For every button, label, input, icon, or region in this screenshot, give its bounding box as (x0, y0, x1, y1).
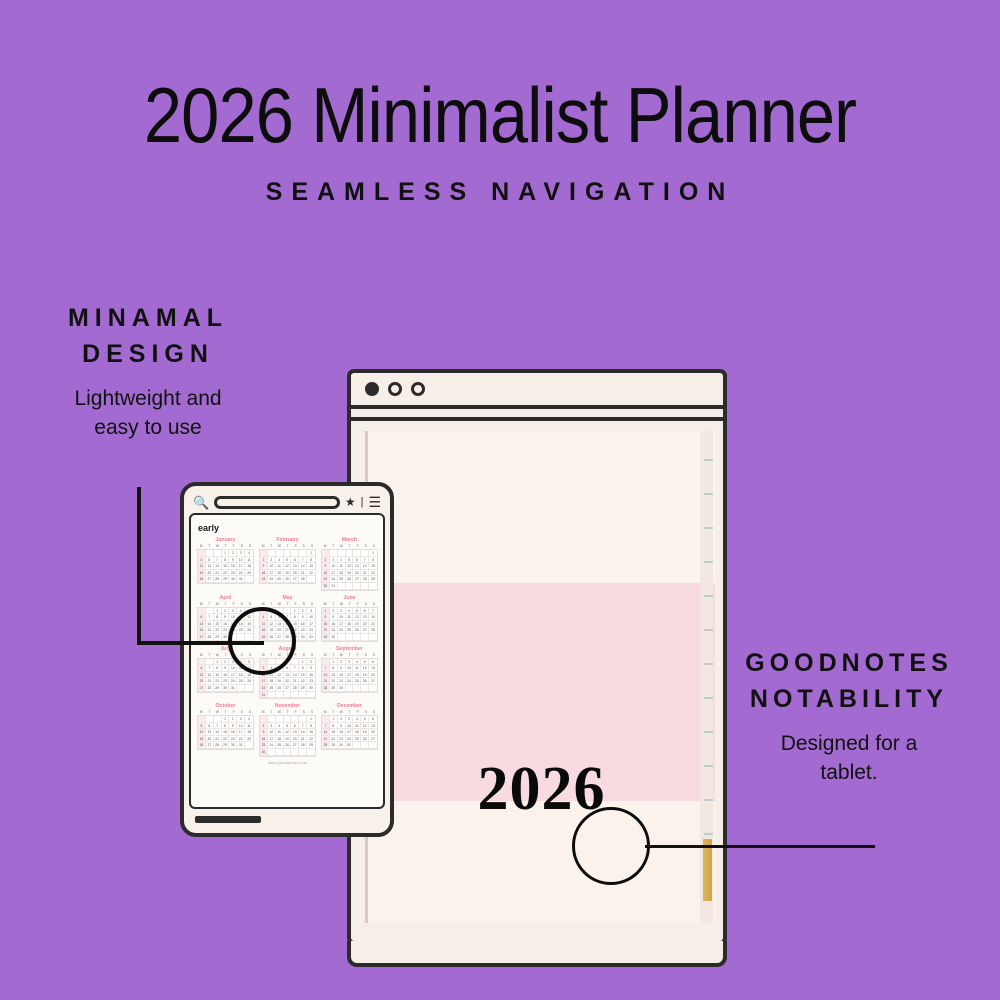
day-cell[interactable]: 31 (229, 685, 237, 692)
day-cell[interactable]: 6 (361, 608, 369, 615)
day-cell[interactable]: 9 (322, 563, 330, 570)
day-cell[interactable] (276, 550, 284, 557)
day-cell[interactable]: 4 (338, 557, 346, 564)
day-cell[interactable] (338, 583, 346, 590)
day-cell[interactable]: 11 (346, 614, 354, 621)
day-cell[interactable]: 13 (198, 672, 206, 679)
day-cell[interactable]: 27 (369, 678, 377, 685)
day-cell[interactable]: 3 (307, 608, 315, 615)
day-cell[interactable]: 20 (284, 678, 292, 685)
window-maximize-dot-icon[interactable] (411, 382, 425, 396)
day-cell[interactable]: 10 (268, 563, 276, 570)
day-cell[interactable] (245, 576, 253, 583)
day-cell[interactable]: 9 (260, 563, 268, 570)
day-cell[interactable]: 19 (284, 736, 292, 743)
day-cell[interactable]: 23 (299, 627, 307, 634)
day-cell[interactable] (198, 716, 206, 723)
day-cell[interactable]: 16 (338, 729, 346, 736)
day-cell[interactable]: 22 (214, 678, 222, 685)
day-cell[interactable]: 17 (346, 672, 354, 679)
day-cell[interactable]: 12 (276, 672, 284, 679)
day-cell[interactable]: 12 (353, 614, 361, 621)
day-cell[interactable]: 16 (222, 621, 230, 628)
day-cell[interactable]: 21 (206, 678, 214, 685)
month-block[interactable]: JuneMTWTFSS12345678910111213141516171819… (321, 595, 378, 642)
day-cell[interactable] (322, 659, 330, 666)
day-cell[interactable]: 5 (346, 557, 354, 564)
day-cell[interactable]: 28 (322, 685, 330, 692)
day-cell[interactable]: 2 (222, 608, 230, 615)
day-cell[interactable]: 26 (353, 627, 361, 634)
day-cell[interactable]: 26 (284, 576, 292, 583)
day-cell[interactable]: 3 (268, 723, 276, 730)
day-cell[interactable]: 26 (245, 678, 253, 685)
day-cell[interactable]: 2 (260, 557, 268, 564)
day-cell[interactable]: 16 (322, 570, 330, 577)
day-cell[interactable]: 12 (361, 723, 369, 730)
day-cell[interactable]: 20 (291, 736, 299, 743)
day-cell[interactable]: 28 (291, 685, 299, 692)
day-cell[interactable]: 2 (299, 608, 307, 615)
day-cell[interactable]: 7 (361, 557, 369, 564)
day-cell[interactable]: 8 (299, 665, 307, 672)
day-cell[interactable]: 10 (330, 563, 338, 570)
day-cell[interactable]: 15 (214, 672, 222, 679)
day-cell[interactable]: 5 (361, 659, 369, 666)
day-cell[interactable] (284, 749, 292, 756)
day-cell[interactable]: 24 (260, 685, 268, 692)
day-cell[interactable]: 7 (299, 557, 307, 564)
day-cell[interactable]: 13 (198, 621, 206, 628)
day-cell[interactable]: 23 (338, 678, 346, 685)
day-cell[interactable]: 21 (214, 570, 222, 577)
day-cell[interactable]: 4 (245, 550, 253, 557)
day-cell[interactable]: 27 (206, 576, 214, 583)
month-block[interactable]: MarchMTWTFSS1234567891011121314151617181… (321, 537, 378, 591)
day-cell[interactable]: 19 (198, 570, 206, 577)
day-cell[interactable]: 29 (222, 742, 230, 749)
month-block[interactable]: FebruaryMTWTFSS1234567891011121314151617… (259, 537, 316, 591)
day-cell[interactable]: 17 (260, 678, 268, 685)
day-cell[interactable]: 19 (198, 736, 206, 743)
day-cell[interactable]: 27 (206, 742, 214, 749)
day-cell[interactable] (361, 583, 369, 590)
day-cell[interactable]: 30 (260, 749, 268, 756)
day-cell[interactable]: 16 (260, 570, 268, 577)
day-cell[interactable]: 6 (206, 723, 214, 730)
day-cell[interactable]: 1 (330, 659, 338, 666)
day-cell[interactable]: 31 (330, 583, 338, 590)
day-cell[interactable]: 2 (338, 716, 346, 723)
day-cell[interactable] (214, 550, 222, 557)
day-cell[interactable]: 19 (276, 678, 284, 685)
day-cell[interactable]: 22 (322, 627, 330, 634)
day-cell[interactable]: 14 (214, 729, 222, 736)
day-cell[interactable]: 20 (361, 621, 369, 628)
day-cell[interactable]: 6 (353, 557, 361, 564)
day-cell[interactable] (284, 692, 292, 699)
day-cell[interactable]: 27 (369, 736, 377, 743)
day-cell[interactable] (353, 685, 361, 692)
day-cell[interactable]: 26 (361, 678, 369, 685)
day-cell[interactable]: 1 (330, 716, 338, 723)
day-cell[interactable]: 16 (338, 672, 346, 679)
day-cell[interactable]: 6 (291, 723, 299, 730)
day-cell[interactable]: 17 (268, 736, 276, 743)
day-cell[interactable] (353, 550, 361, 557)
day-cell[interactable]: 1 (322, 608, 330, 615)
day-cell[interactable]: 9 (222, 665, 230, 672)
day-cell[interactable] (206, 716, 214, 723)
day-cell[interactable]: 26 (198, 576, 206, 583)
day-cell[interactable]: 7 (369, 608, 377, 615)
day-cell[interactable]: 20 (206, 736, 214, 743)
day-cell[interactable]: 11 (245, 723, 253, 730)
day-cell[interactable]: 22 (222, 570, 230, 577)
day-cell[interactable]: 25 (245, 570, 253, 577)
day-cell[interactable] (307, 692, 315, 699)
day-cell[interactable]: 5 (284, 723, 292, 730)
day-cell[interactable]: 8 (214, 614, 222, 621)
day-cell[interactable]: 1 (307, 550, 315, 557)
day-cell[interactable]: 15 (369, 563, 377, 570)
day-cell[interactable] (369, 583, 377, 590)
day-cell[interactable] (291, 749, 299, 756)
day-cell[interactable]: 25 (276, 742, 284, 749)
day-cell[interactable] (276, 692, 284, 699)
day-cell[interactable]: 12 (198, 563, 206, 570)
day-cell[interactable]: 8 (214, 665, 222, 672)
day-cell[interactable]: 1 (307, 716, 315, 723)
day-cell[interactable]: 29 (369, 576, 377, 583)
day-cell[interactable]: 5 (198, 723, 206, 730)
day-cell[interactable]: 22 (307, 736, 315, 743)
day-cell[interactable]: 12 (284, 563, 292, 570)
day-cell[interactable] (260, 716, 268, 723)
day-cell[interactable]: 2 (229, 550, 237, 557)
day-cell[interactable]: 9 (222, 614, 230, 621)
day-cell[interactable]: 26 (198, 742, 206, 749)
day-cell[interactable] (214, 716, 222, 723)
day-cell[interactable]: 17 (229, 672, 237, 679)
day-cell[interactable]: 22 (299, 678, 307, 685)
day-cell[interactable]: 28 (214, 576, 222, 583)
day-cell[interactable]: 21 (291, 678, 299, 685)
day-cell[interactable]: 1 (214, 608, 222, 615)
day-cell[interactable]: 26 (361, 736, 369, 743)
day-cell[interactable]: 9 (330, 614, 338, 621)
day-cell[interactable]: 24 (237, 570, 245, 577)
day-cell[interactable]: 28 (206, 634, 214, 641)
day-cell[interactable] (291, 716, 299, 723)
day-cell[interactable]: 17 (307, 621, 315, 628)
day-cell[interactable]: 13 (291, 729, 299, 736)
day-cell[interactable]: 30 (299, 634, 307, 641)
day-cell[interactable]: 4 (276, 557, 284, 564)
day-cell[interactable]: 31 (237, 576, 245, 583)
day-cell[interactable] (268, 749, 276, 756)
day-cell[interactable]: 1 (291, 608, 299, 615)
day-cell[interactable]: 20 (353, 570, 361, 577)
day-cell[interactable]: 20 (369, 729, 377, 736)
day-cell[interactable]: 7 (206, 665, 214, 672)
day-cell[interactable]: 27 (291, 742, 299, 749)
day-cell[interactable]: 2 (222, 659, 230, 666)
day-cell[interactable]: 8 (222, 723, 230, 730)
url-input[interactable] (214, 496, 340, 509)
day-cell[interactable]: 30 (229, 742, 237, 749)
month-block[interactable]: SeptemberMTWTFSS123456789101112131415161… (321, 646, 378, 700)
day-cell[interactable]: 23 (229, 736, 237, 743)
day-cell[interactable]: 10 (237, 557, 245, 564)
day-cell[interactable] (299, 692, 307, 699)
day-cell[interactable]: 14 (361, 563, 369, 570)
day-cell[interactable]: 11 (353, 665, 361, 672)
day-cell[interactable]: 1 (369, 550, 377, 557)
day-cell[interactable]: 20 (206, 570, 214, 577)
day-cell[interactable]: 17 (237, 563, 245, 570)
day-cell[interactable] (361, 685, 369, 692)
day-cell[interactable]: 27 (284, 685, 292, 692)
day-cell[interactable]: 16 (260, 736, 268, 743)
day-cell[interactable] (268, 692, 276, 699)
day-cell[interactable]: 24 (268, 576, 276, 583)
day-cell[interactable]: 1 (222, 550, 230, 557)
day-cell[interactable]: 11 (276, 563, 284, 570)
day-cell[interactable] (299, 716, 307, 723)
day-cell[interactable]: 4 (346, 608, 354, 615)
day-cell[interactable]: 16 (330, 621, 338, 628)
day-cell[interactable]: 21 (299, 736, 307, 743)
day-cell[interactable] (291, 550, 299, 557)
day-cell[interactable]: 15 (299, 672, 307, 679)
day-cell[interactable] (307, 576, 315, 583)
day-cell[interactable]: 11 (276, 729, 284, 736)
day-cell[interactable] (361, 634, 369, 641)
day-cell[interactable]: 12 (198, 729, 206, 736)
month-block[interactable]: NovemberMTWTFSS1234567891011121314151617… (259, 703, 316, 757)
day-cell[interactable]: 1 (222, 716, 230, 723)
day-cell[interactable]: 13 (369, 723, 377, 730)
day-cell[interactable]: 21 (206, 627, 214, 634)
day-cell[interactable]: 27 (198, 685, 206, 692)
day-cell[interactable]: 8 (291, 614, 299, 621)
day-cell[interactable]: 29 (214, 634, 222, 641)
day-cell[interactable]: 20 (198, 627, 206, 634)
day-cell[interactable]: 9 (260, 729, 268, 736)
day-cell[interactable]: 25 (237, 678, 245, 685)
day-cell[interactable]: 24 (237, 736, 245, 743)
day-cell[interactable]: 14 (299, 729, 307, 736)
day-cell[interactable]: 26 (284, 742, 292, 749)
day-cell[interactable]: 3 (268, 557, 276, 564)
day-cell[interactable]: 28 (361, 576, 369, 583)
day-cell[interactable]: 2 (260, 723, 268, 730)
day-cell[interactable] (206, 659, 214, 666)
hamburger-menu-icon[interactable]: ☰ (368, 495, 381, 509)
day-cell[interactable] (260, 550, 268, 557)
month-block[interactable]: JanuaryMTWTFSS12345678910111213141516171… (197, 537, 254, 591)
day-cell[interactable] (276, 749, 284, 756)
day-cell[interactable]: 12 (361, 665, 369, 672)
day-cell[interactable]: 10 (307, 614, 315, 621)
day-cell[interactable]: 25 (353, 678, 361, 685)
day-cell[interactable] (361, 550, 369, 557)
day-cell[interactable]: 6 (198, 665, 206, 672)
day-cell[interactable]: 27 (361, 627, 369, 634)
day-cell[interactable]: 24 (346, 736, 354, 743)
day-cell[interactable]: 13 (361, 614, 369, 621)
day-cell[interactable] (291, 692, 299, 699)
day-cell[interactable]: 20 (198, 678, 206, 685)
day-cell[interactable]: 1 (214, 659, 222, 666)
day-cell[interactable] (338, 634, 346, 641)
day-cell[interactable]: 24 (307, 627, 315, 634)
month-block[interactable]: OctoberMTWTFSS12345678910111213141516171… (197, 703, 254, 757)
day-cell[interactable] (198, 659, 206, 666)
day-cell[interactable]: 3 (237, 716, 245, 723)
day-cell[interactable]: 18 (245, 563, 253, 570)
day-cell[interactable]: 2 (338, 659, 346, 666)
day-cell[interactable]: 26 (276, 685, 284, 692)
day-cell[interactable]: 17 (330, 570, 338, 577)
day-cell[interactable]: 13 (206, 729, 214, 736)
day-cell[interactable]: 21 (299, 570, 307, 577)
day-cell[interactable]: 4 (353, 716, 361, 723)
day-cell[interactable]: 26 (346, 576, 354, 583)
day-cell[interactable]: 15 (214, 621, 222, 628)
day-cell[interactable]: 16 (229, 563, 237, 570)
day-cell[interactable]: 9 (307, 665, 315, 672)
day-cell[interactable]: 8 (307, 723, 315, 730)
day-cell[interactable] (198, 608, 206, 615)
day-cell[interactable]: 9 (338, 665, 346, 672)
day-cell[interactable]: 20 (369, 672, 377, 679)
day-cell[interactable]: 23 (260, 742, 268, 749)
day-cell[interactable]: 17 (268, 570, 276, 577)
day-cell[interactable]: 6 (198, 614, 206, 621)
day-cell[interactable]: 23 (229, 570, 237, 577)
day-cell[interactable]: 25 (346, 627, 354, 634)
day-cell[interactable]: 25 (268, 685, 276, 692)
day-cell[interactable]: 30 (338, 742, 346, 749)
day-cell[interactable]: 19 (346, 570, 354, 577)
day-cell[interactable]: 12 (346, 563, 354, 570)
day-cell[interactable] (299, 550, 307, 557)
day-cell[interactable]: 4 (276, 723, 284, 730)
day-cell[interactable]: 7 (299, 723, 307, 730)
day-cell[interactable]: 24 (229, 678, 237, 685)
day-cell[interactable]: 2 (322, 557, 330, 564)
day-cell[interactable]: 13 (291, 563, 299, 570)
day-cell[interactable]: 13 (353, 563, 361, 570)
day-cell[interactable]: 3 (338, 608, 346, 615)
day-cell[interactable] (198, 550, 206, 557)
day-cell[interactable]: 23 (338, 736, 346, 743)
day-cell[interactable]: 1 (299, 659, 307, 666)
day-cell[interactable] (276, 716, 284, 723)
day-cell[interactable]: 14 (322, 729, 330, 736)
day-cell[interactable]: 9 (229, 557, 237, 564)
day-cell[interactable] (353, 634, 361, 641)
window-minimize-dot-icon[interactable] (388, 382, 402, 396)
day-cell[interactable]: 16 (222, 672, 230, 679)
day-cell[interactable]: 29 (322, 634, 330, 641)
window-close-dot-icon[interactable] (365, 382, 379, 396)
day-cell[interactable]: 8 (322, 614, 330, 621)
day-cell[interactable]: 29 (214, 685, 222, 692)
day-cell[interactable]: 18 (276, 570, 284, 577)
day-cell[interactable]: 14 (299, 563, 307, 570)
day-cell[interactable]: 24 (268, 742, 276, 749)
day-cell[interactable]: 29 (307, 742, 315, 749)
day-cell[interactable]: 14 (206, 672, 214, 679)
day-cell[interactable] (346, 634, 354, 641)
day-cell[interactable]: 7 (206, 614, 214, 621)
day-cell[interactable]: 30 (338, 685, 346, 692)
day-cell[interactable]: 7 (214, 723, 222, 730)
day-cell[interactable] (353, 742, 361, 749)
day-cell[interactable]: 10 (229, 665, 237, 672)
day-cell[interactable]: 14 (206, 621, 214, 628)
day-cell[interactable] (245, 742, 253, 749)
day-cell[interactable]: 23 (260, 576, 268, 583)
day-cell[interactable]: 22 (214, 627, 222, 634)
day-cell[interactable] (284, 550, 292, 557)
day-cell[interactable]: 2 (307, 659, 315, 666)
month-block[interactable]: DecemberMTWTFSS1234567891011121314151617… (321, 703, 378, 757)
day-cell[interactable]: 19 (361, 729, 369, 736)
day-cell[interactable]: 20 (291, 570, 299, 577)
day-cell[interactable] (245, 685, 253, 692)
day-cell[interactable]: 6 (369, 716, 377, 723)
day-cell[interactable]: 9 (299, 614, 307, 621)
day-cell[interactable]: 27 (291, 576, 299, 583)
day-cell[interactable]: 11 (245, 557, 253, 564)
day-cell[interactable]: 22 (369, 570, 377, 577)
day-cell[interactable]: 13 (369, 665, 377, 672)
day-cell[interactable]: 18 (245, 729, 253, 736)
day-cell[interactable]: 15 (307, 563, 315, 570)
day-cell[interactable] (361, 742, 369, 749)
day-cell[interactable]: 7 (214, 557, 222, 564)
day-cell[interactable]: 18 (338, 570, 346, 577)
day-cell[interactable]: 28 (322, 742, 330, 749)
day-cell[interactable]: 22 (330, 736, 338, 743)
day-cell[interactable]: 23 (307, 678, 315, 685)
day-cell[interactable]: 18 (237, 672, 245, 679)
day-cell[interactable]: 28 (299, 576, 307, 583)
day-cell[interactable]: 8 (369, 557, 377, 564)
day-cell[interactable] (284, 716, 292, 723)
day-cell[interactable]: 18 (353, 729, 361, 736)
day-cell[interactable]: 31 (260, 692, 268, 699)
day-cell[interactable]: 8 (330, 665, 338, 672)
day-cell[interactable] (346, 685, 354, 692)
day-cell[interactable]: 25 (245, 736, 253, 743)
day-cell[interactable]: 14 (369, 614, 377, 621)
day-cell[interactable]: 17 (346, 729, 354, 736)
day-cell[interactable]: 18 (276, 736, 284, 743)
day-cell[interactable]: 2 (229, 716, 237, 723)
day-cell[interactable] (206, 550, 214, 557)
day-cell[interactable]: 31 (307, 634, 315, 641)
day-cell[interactable]: 6 (369, 659, 377, 666)
day-cell[interactable] (299, 749, 307, 756)
day-cell[interactable]: 31 (346, 742, 354, 749)
day-cell[interactable]: 25 (276, 576, 284, 583)
day-cell[interactable]: 15 (222, 563, 230, 570)
